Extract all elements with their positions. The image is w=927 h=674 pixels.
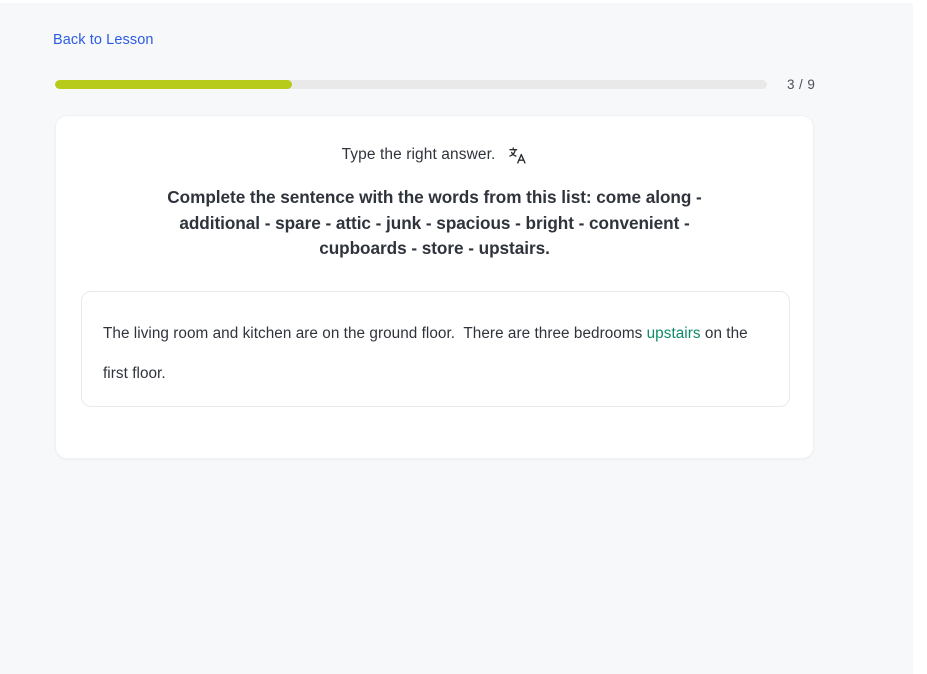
prompt-row: Type the right answer. [56, 145, 813, 165]
progress-row: 3 / 9 [55, 71, 835, 97]
translate-icon[interactable] [507, 145, 527, 165]
exercise-instruction: Complete the sentence with the words fro… [142, 185, 727, 262]
lesson-exercise-page: Back to Lesson 3 / 9 Type the right answ… [0, 3, 913, 674]
answer-filled-word[interactable]: upstairs [647, 325, 701, 342]
exercise-card: Type the right answer. Complete the sent… [55, 115, 814, 459]
right-gutter [913, 0, 927, 674]
progress-bar-fill [55, 80, 292, 89]
prompt-label: Type the right answer. [342, 146, 496, 164]
answer-input-box[interactable]: The living room and kitchen are on the g… [81, 291, 790, 407]
answer-text-before: The living room and kitchen are on the g… [103, 325, 647, 342]
answer-sentence: The living room and kitchen are on the g… [103, 314, 768, 394]
progress-counter: 3 / 9 [787, 77, 815, 92]
back-to-lesson-link[interactable]: Back to Lesson [53, 30, 154, 50]
progress-bar-track[interactable] [55, 80, 767, 89]
